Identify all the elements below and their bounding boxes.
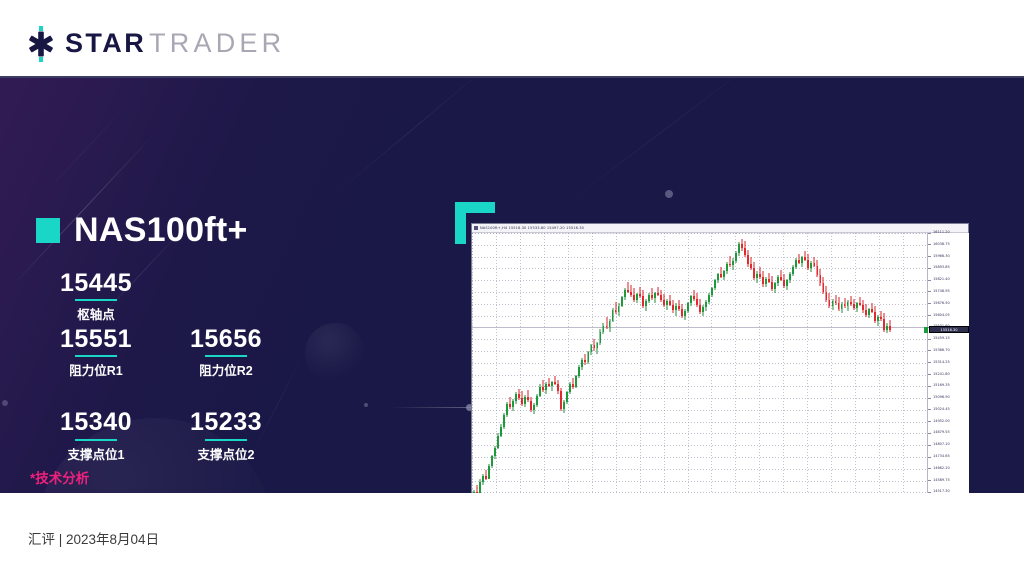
price-tick-label: 15676.50 [928, 302, 969, 306]
level-label: 阻力位R2 [170, 360, 282, 379]
price-tick-label: 15459.15 [928, 337, 969, 341]
candle [663, 233, 665, 493]
decor-dot [364, 403, 368, 407]
candle [681, 233, 683, 493]
square-bullet-icon [36, 218, 60, 243]
candle [871, 233, 873, 493]
candle [750, 233, 752, 493]
candle [804, 233, 806, 493]
candle [648, 233, 650, 493]
candle [883, 233, 885, 493]
candle [669, 233, 671, 493]
price-tick-label: 14952.00 [928, 420, 969, 424]
candle [627, 233, 629, 493]
pivot-value: 15445 [53, 270, 139, 296]
candle [880, 233, 882, 493]
candle [726, 233, 728, 493]
price-tick-label: 15024.45 [928, 408, 969, 412]
candle [554, 233, 556, 493]
level-cell-r2: 15656 阻力位R2 [170, 326, 282, 379]
candle [783, 233, 785, 493]
levels-grid: 15551 阻力位R1 15656 阻力位R2 15340 支撑点位1 1523… [40, 326, 282, 463]
candle [615, 233, 617, 493]
candle [708, 233, 710, 493]
candle [654, 233, 656, 493]
candle [578, 233, 580, 493]
candle [657, 233, 659, 493]
level-label: 支撑点位2 [170, 444, 282, 463]
candle [687, 233, 689, 493]
candle [684, 233, 686, 493]
candle [666, 233, 668, 493]
candle [729, 233, 731, 493]
candle [473, 233, 475, 493]
candle [597, 233, 599, 493]
candle [603, 233, 605, 493]
price-tick-label: 15748.95 [928, 290, 969, 294]
price-tick-label: 15314.25 [928, 361, 969, 365]
brand-logo: STAR TRADER [26, 28, 285, 59]
candle [624, 233, 626, 493]
candle [771, 233, 773, 493]
candle [877, 233, 879, 493]
candle [699, 233, 701, 493]
candle [588, 233, 590, 493]
candle [485, 233, 487, 493]
candle [581, 233, 583, 493]
candle [569, 233, 571, 493]
candle [678, 233, 680, 493]
candle [482, 233, 484, 493]
candle [651, 233, 653, 493]
candle [506, 233, 508, 493]
candle [844, 233, 846, 493]
candle [696, 233, 698, 493]
candle [606, 233, 608, 493]
decor-circle-small [305, 323, 365, 383]
price-tick-label: 16111.20 [928, 231, 969, 235]
candle [636, 233, 638, 493]
candle [856, 233, 858, 493]
candle [575, 233, 577, 493]
candle [807, 233, 809, 493]
candle [823, 233, 825, 493]
price-tick-label: 15966.30 [928, 255, 969, 259]
candle [792, 233, 794, 493]
level-label: 阻力位R1 [40, 360, 152, 379]
price-tick-label: 15169.35 [928, 384, 969, 388]
candle [768, 233, 770, 493]
candle [563, 233, 565, 493]
level-value: 15233 [170, 409, 282, 435]
decor-streak [560, 78, 768, 209]
level-cell-s1: 15340 支撑点位1 [40, 409, 152, 462]
level-value: 15656 [170, 326, 282, 352]
candle [639, 233, 641, 493]
level-value: 15340 [40, 409, 152, 435]
candle [795, 233, 797, 493]
candle [744, 233, 746, 493]
candle [591, 233, 593, 493]
candle [542, 233, 544, 493]
candle [515, 233, 517, 493]
candle [735, 233, 737, 493]
accent-underline [75, 355, 117, 357]
candle [714, 233, 716, 493]
candle [621, 233, 623, 493]
page-footer: 汇评 | 2023年8月04日 [0, 493, 1024, 576]
pivot-label: 枢轴点 [53, 304, 139, 323]
candle [759, 233, 761, 493]
price-axis[interactable]: 16111.2016038.7515966.3015893.8515821.40… [927, 233, 969, 493]
candle [618, 233, 620, 493]
candle [826, 233, 828, 493]
current-price-marker [924, 327, 928, 333]
candle [566, 233, 568, 493]
candle [527, 233, 529, 493]
candle [786, 233, 788, 493]
candle [711, 233, 713, 493]
technical-analysis: *技术分析 多头持仓在枢轴点以上, 目标位为阻力位R1及阻力位R2。 若低于枢轴… [30, 467, 410, 493]
price-tick-label: 15893.85 [928, 266, 969, 270]
candle [612, 233, 614, 493]
price-tick-label: 15241.80 [928, 373, 969, 377]
level-cell-s2: 15233 支撑点位2 [170, 409, 282, 462]
candle [723, 233, 725, 493]
candle [536, 233, 538, 493]
candle [533, 233, 535, 493]
candle [509, 233, 511, 493]
level-cell-r1: 15551 阻力位R1 [40, 326, 152, 379]
candle [633, 233, 635, 493]
candle [829, 233, 831, 493]
page-header: STAR TRADER [0, 0, 1024, 78]
candle [521, 233, 523, 493]
analysis-heading: *技术分析 [30, 467, 410, 487]
candle [500, 233, 502, 493]
candle [838, 233, 840, 493]
candle [488, 233, 490, 493]
instrument-title: NAS100ft+ [36, 211, 248, 250]
candle [741, 233, 743, 493]
chart-titlebar: NAS100ft+,H4 15518.30 15533.80 15497.20 … [472, 224, 968, 233]
candle [594, 233, 596, 493]
candle [503, 233, 505, 493]
candle [859, 233, 861, 493]
chart-window[interactable]: NAS100ft+,H4 15518.30 15533.80 15497.20 … [471, 223, 969, 493]
candle [841, 233, 843, 493]
candle [762, 233, 764, 493]
candle [660, 233, 662, 493]
candle [530, 233, 532, 493]
candle [642, 233, 644, 493]
footer-caption: 汇评 | 2023年8月04日 [28, 528, 159, 548]
candle [798, 233, 800, 493]
accent-underline [75, 439, 117, 441]
decor-dot [665, 190, 673, 198]
candle [645, 233, 647, 493]
candle [832, 233, 834, 493]
accent-underline [75, 299, 117, 301]
candle [512, 233, 514, 493]
logo-accent-dot-bottom [39, 57, 43, 62]
candle [765, 233, 767, 493]
candle [756, 233, 758, 493]
candle [609, 233, 611, 493]
candle [820, 233, 822, 493]
price-tick-label: 15386.70 [928, 349, 969, 353]
candle [753, 233, 755, 493]
candle [545, 233, 547, 493]
candle [675, 233, 677, 493]
candle [835, 233, 837, 493]
level-label: 支撑点位1 [40, 444, 152, 463]
candle [518, 233, 520, 493]
candle [551, 233, 553, 493]
logo-text-secondary: TRADER [149, 28, 285, 59]
price-tick-label: 14589.75 [928, 479, 969, 483]
pivot-level: 15445 枢轴点 [53, 270, 139, 323]
candle [732, 233, 734, 493]
price-tick-label: 14807.10 [928, 443, 969, 447]
accent-underline [205, 439, 247, 441]
candlestick-plot[interactable] [472, 233, 927, 493]
price-tick-label: 15821.40 [928, 278, 969, 282]
candle [717, 233, 719, 493]
candle [801, 233, 803, 493]
hero-panel: NAS100ft+ 15445 枢轴点 15551 阻力位R1 15656 阻力… [0, 78, 1024, 493]
candle [817, 233, 819, 493]
candle [862, 233, 864, 493]
candle [850, 233, 852, 493]
current-price-tag: 15516.30 [929, 326, 969, 333]
logo-text-primary: STAR [65, 28, 146, 59]
candle [672, 233, 674, 493]
candle [777, 233, 779, 493]
candle [847, 233, 849, 493]
candle [747, 233, 749, 493]
candle [557, 233, 559, 493]
chart-titlebar-text: NAS100ft+,H4 15518.30 15533.80 15497.20 … [480, 226, 584, 230]
candle [720, 233, 722, 493]
decor-dot [2, 400, 8, 406]
candle [810, 233, 812, 493]
candle-series [472, 233, 927, 493]
candle [814, 233, 816, 493]
candle [780, 233, 782, 493]
candle [491, 233, 493, 493]
candle [494, 233, 496, 493]
candle [600, 233, 602, 493]
candle [886, 233, 888, 493]
price-tick-label: 16038.75 [928, 243, 969, 247]
accent-underline [205, 355, 247, 357]
candle [789, 233, 791, 493]
logo-accent-dot-top [39, 26, 43, 31]
chart-window-icon [474, 226, 478, 230]
candle [524, 233, 526, 493]
candle [630, 233, 632, 493]
candle [738, 233, 740, 493]
level-value: 15551 [40, 326, 152, 352]
candle [868, 233, 870, 493]
candle [479, 233, 481, 493]
candle [476, 233, 478, 493]
candle [693, 233, 695, 493]
price-tick-label: 14879.55 [928, 431, 969, 435]
candle [774, 233, 776, 493]
candle [690, 233, 692, 493]
price-tick-label: 14662.20 [928, 467, 969, 471]
price-tick-label: 15096.90 [928, 396, 969, 400]
candle [705, 233, 707, 493]
candle [539, 233, 541, 493]
instrument-symbol: NAS100ft+ [74, 211, 248, 250]
price-tick-label: 15604.05 [928, 314, 969, 318]
candle [560, 233, 562, 493]
candle [865, 233, 867, 493]
star-asterisk-icon [26, 29, 56, 59]
candle [548, 233, 550, 493]
candle [572, 233, 574, 493]
candle [874, 233, 876, 493]
candle [853, 233, 855, 493]
candle [889, 233, 891, 493]
candle [584, 233, 586, 493]
price-tick-label: 14734.65 [928, 455, 969, 459]
candle [497, 233, 499, 493]
candle [702, 233, 704, 493]
